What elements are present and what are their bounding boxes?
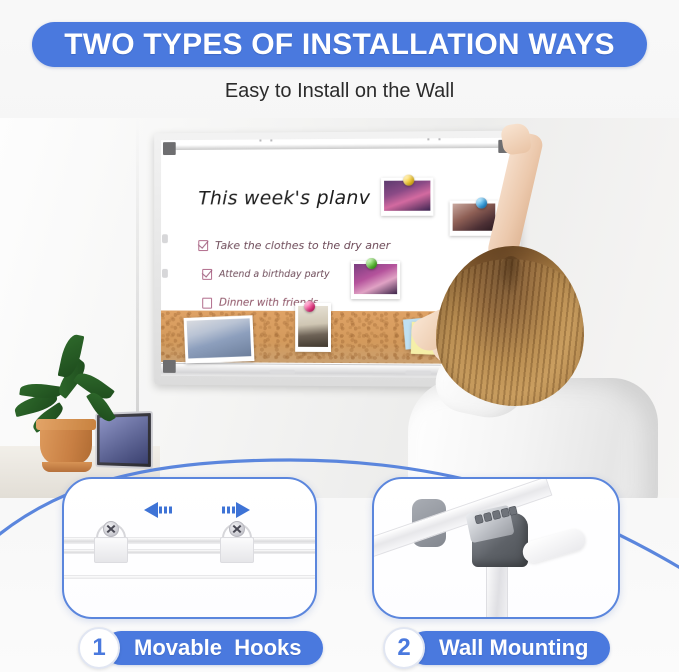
magnet-yellow — [403, 175, 414, 186]
phillips-screw — [229, 521, 245, 537]
slide-rail — [62, 575, 317, 579]
checkbox-checked-icon — [202, 269, 212, 280]
handle-grip — [520, 527, 588, 566]
task-label: Attend a birthday party — [219, 269, 330, 280]
step-number-badge: 1 — [78, 627, 120, 669]
task-item: Attend a birthday party — [202, 269, 329, 280]
magnet-green — [366, 258, 377, 269]
photo-family-cork — [184, 315, 255, 363]
checkbox-checked-icon — [198, 240, 208, 251]
board-title: This week's planv — [198, 187, 370, 210]
panel-movable-hooks — [62, 477, 317, 619]
step-label: Movable Hooks — [104, 631, 323, 665]
magnet-pink — [304, 301, 315, 312]
panel-wall-mounting — [372, 477, 620, 619]
phillips-screw — [103, 521, 119, 537]
frame-side-clip — [162, 269, 168, 278]
banner-title: TWO TYPES OF INSTALLATION WAYS — [64, 28, 614, 62]
title-banner: TWO TYPES OF INSTALLATION WAYS — [32, 22, 647, 67]
checkbox-empty-icon — [202, 297, 212, 308]
wall-corner-edge — [136, 118, 139, 418]
hook-bracket — [94, 537, 128, 563]
hook-bracket — [220, 537, 254, 563]
frame-corner — [163, 142, 176, 155]
infographic-canvas: TWO TYPES OF INSTALLATION WAYS Easy to I… — [0, 0, 679, 672]
task-item: Take the clothes to the dry aner — [198, 239, 390, 252]
label-movable-hooks: 1 Movable Hooks — [78, 627, 323, 669]
subtitle: Easy to Install on the Wall — [0, 80, 679, 103]
frame-corner — [163, 360, 176, 373]
flower-pot-rim — [36, 419, 96, 430]
hair — [436, 246, 584, 406]
tray-tab — [269, 370, 295, 374]
bidirectional-arrows — [142, 499, 252, 521]
step-number-badge: 2 — [383, 627, 425, 669]
step-label: Wall Mounting — [409, 631, 610, 665]
label-wall-mounting: 2 Wall Mounting — [383, 627, 610, 669]
task-label: Take the clothes to the dry aner — [215, 239, 390, 252]
frame-side-clip — [162, 234, 168, 243]
wall-hook-icon — [259, 138, 272, 142]
